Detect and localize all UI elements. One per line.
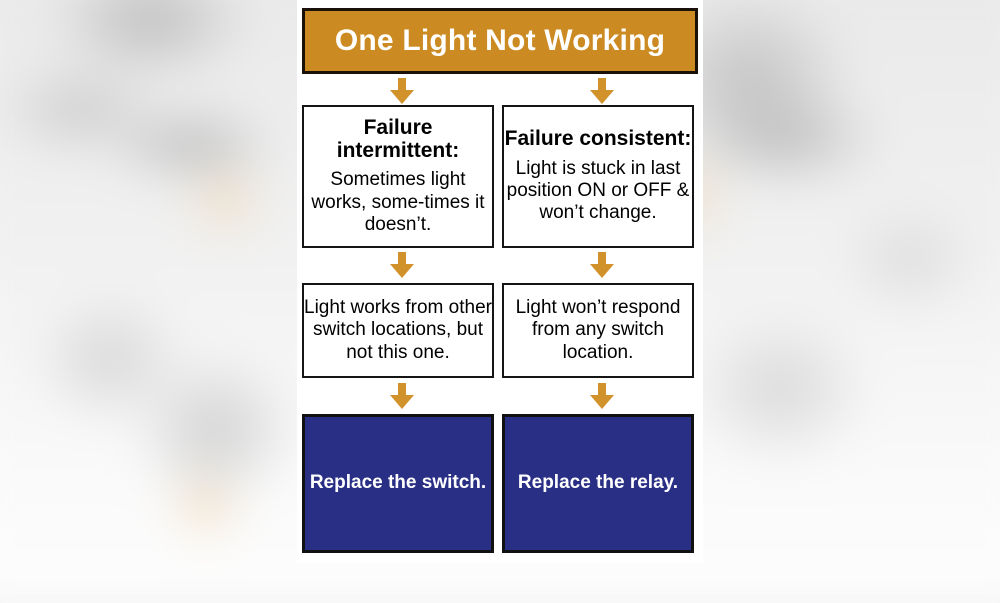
arrow-down-icon — [589, 383, 615, 409]
action-box-replace-relay: Replace the relay. — [502, 414, 694, 553]
detail-text: Light works from other switch locations,… — [304, 297, 492, 364]
page-title: One Light Not Working — [335, 26, 665, 56]
symptom-title: Failure consistent: — [505, 128, 692, 151]
arrow-down-icon — [589, 78, 615, 104]
symptom-box-consistent: Failure consistent: Light is stuck in la… — [502, 105, 694, 248]
symptom-box-intermittent: Failure intermittent: Sometimes light wo… — [302, 105, 494, 248]
arrow-down-icon — [589, 252, 615, 278]
arrow-down-icon — [389, 252, 415, 278]
action-text: Replace the relay. — [518, 472, 678, 495]
action-text: Replace the switch. — [310, 472, 486, 495]
arrow-down-icon — [389, 78, 415, 104]
arrow-down-icon — [389, 383, 415, 409]
detail-box-consistent: Light won’t respond from any switch loca… — [502, 283, 694, 378]
symptom-text: Light is stuck in last position ON or OF… — [504, 158, 692, 225]
detail-text: Light won’t respond from any switch loca… — [504, 297, 692, 364]
symptom-title: Failure intermittent: — [304, 117, 492, 162]
symptom-text: Sometimes light works, some-times it doe… — [304, 169, 492, 236]
detail-box-intermittent: Light works from other switch locations,… — [302, 283, 494, 378]
flowchart-panel: One Light Not Working Failure intermitte… — [297, 0, 703, 563]
action-box-replace-switch: Replace the switch. — [302, 414, 494, 553]
flowchart-title-box: One Light Not Working — [302, 8, 698, 74]
